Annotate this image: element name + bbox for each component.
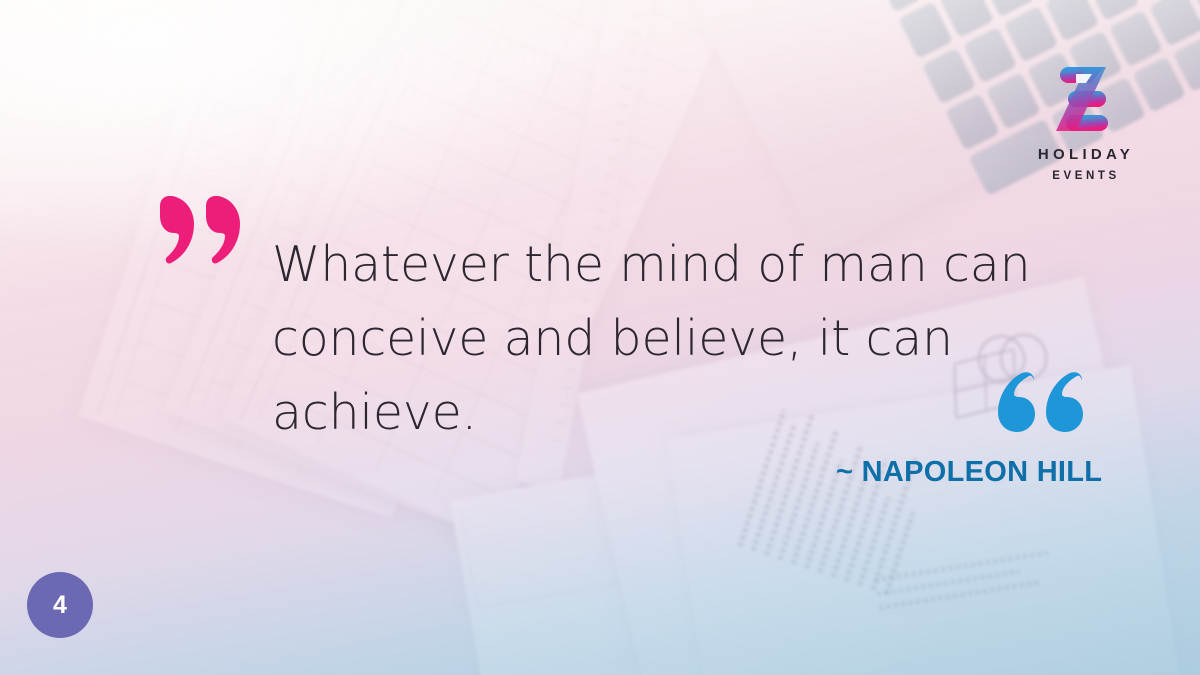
quotation-mark-pink-icon (154, 196, 246, 264)
quote-attribution: ~ NAPOLEON HILL (836, 456, 1102, 489)
quote-text: Whatever the mind of man can conceive an… (272, 228, 972, 450)
quote-line-2: conceive and believe, it can (272, 302, 972, 376)
quote-slide: Whatever the mind of man can conceive an… (0, 0, 1200, 675)
quote-line-1: Whatever the mind of man can (272, 228, 972, 302)
page-number-badge: 4 (27, 572, 93, 638)
quote-line-3: achieve. (272, 376, 972, 450)
logo-subtitle: EVENTS (1016, 170, 1156, 182)
quotation-mark-blue-icon (996, 372, 1086, 434)
holiday-events-monogram-icon (1016, 62, 1156, 136)
logo-name: HOLIDAY (1016, 146, 1156, 163)
brand-logo: HOLIDAY EVENTS (1016, 62, 1156, 182)
page-number: 4 (53, 591, 67, 620)
slide-content: Whatever the mind of man can conceive an… (0, 0, 1200, 675)
